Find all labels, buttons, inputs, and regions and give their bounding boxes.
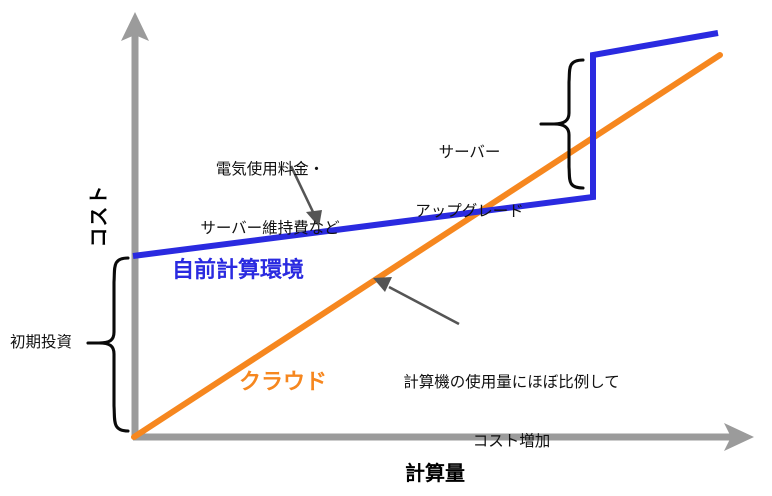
chart-canvas: コスト 計算量 自前計算環境 クラウド 初期投資 サーバー アップグレード 電気… [0,0,772,496]
y-axis-label-text: コスト [83,185,112,248]
initial-investment-label: 初期投資 [10,333,72,353]
cloud-series-label: クラウド [239,368,327,396]
proportional-annotation-line2: コスト増加 [378,432,645,452]
proportional-annotation-line1: 計算機の使用量にほぼ比例して [378,373,645,393]
server-upgrade-label: サーバー アップグレード [403,103,536,262]
y-axis-label: コスト [62,166,132,266]
initial-investment-brace [99,258,128,431]
maintenance-annotation-line2: サーバー維持費など [182,219,358,239]
proportional-annotation: 計算機の使用量にほぼ比例して コスト増加 [378,333,645,492]
proportional-annotation-arrow [373,277,459,324]
server-upgrade-label-line1: サーバー [403,143,536,163]
maintenance-annotation: 電気使用料金・ サーバー維持費など [182,120,358,279]
maintenance-annotation-line1: 電気使用料金・ [182,160,358,180]
server-upgrade-label-line2: アップグレード [403,202,536,222]
server-upgrade-brace [554,60,583,188]
